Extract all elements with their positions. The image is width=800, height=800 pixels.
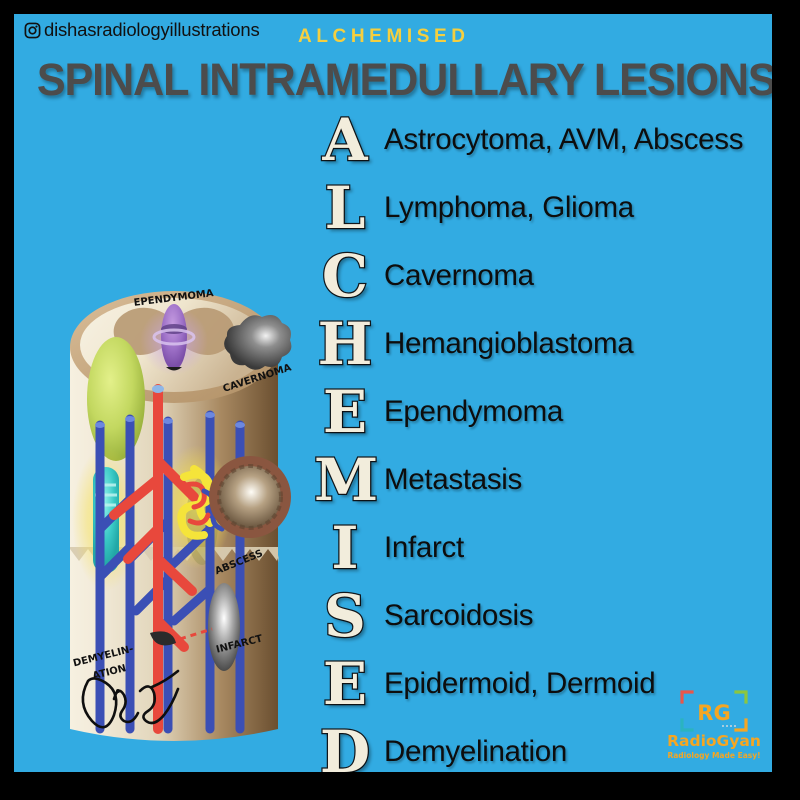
- mnemonic-letter: A: [314, 111, 376, 169]
- mnemonic-row: LLymphoma, Glioma: [314, 174, 772, 242]
- mnemonic-row: AAstrocytoma, AVM, Abscess: [314, 106, 772, 174]
- page-title: SPINAL INTRAMEDULLARY LESIONS: [37, 54, 749, 106]
- logo-tagline: Radiology Made Easy!: [667, 751, 760, 760]
- mnemonic-term: Lymphoma, Glioma: [384, 191, 634, 225]
- mnemonic-letter: E: [314, 655, 376, 713]
- mnemonic-term: Astrocytoma, AVM, Abscess: [384, 123, 743, 157]
- mnemonic-term: Cavernoma: [384, 259, 534, 293]
- mnemonic-term: Infarct: [384, 531, 464, 565]
- instagram-icon: [24, 22, 41, 39]
- mnemonic-letter: M: [314, 451, 376, 509]
- mnemonic-term: Demyelination: [384, 735, 567, 769]
- mnemonic-letter: C: [314, 247, 376, 305]
- eyebrow-text: ALCHEMISED: [298, 26, 470, 48]
- mnemonic-term: Ependymoma: [384, 395, 563, 429]
- mnemonic-letter: S: [314, 587, 376, 645]
- spinal-cord-illustration: EPENDYMOMA CAVERNOMA: [44, 229, 304, 759]
- poster-root: dishasradiologyillustrations ALCHEMISED …: [0, 0, 800, 800]
- mnemonic-term: Hemangioblastoma: [384, 327, 633, 361]
- logo-name: RadioGyan: [667, 732, 761, 750]
- mnemonic-row: IInfarct: [314, 514, 772, 582]
- mnemonic-letter: E: [314, 383, 376, 441]
- logo-monogram: RG: [697, 701, 730, 725]
- mnemonic-row: SSarcoidosis: [314, 582, 772, 650]
- mnemonic-row: MMetastasis: [314, 446, 772, 514]
- mnemonic-row: EEpendymoma: [314, 378, 772, 446]
- mnemonic-letter: I: [314, 519, 376, 577]
- mnemonic-row: CCavernoma: [314, 242, 772, 310]
- mnemonic-term: Epidermoid, Dermoid: [384, 667, 655, 701]
- mnemonic-term: Sarcoidosis: [384, 599, 533, 633]
- mnemonic-row: HHemangioblastoma: [314, 310, 772, 378]
- poster-card: dishasradiologyillustrations ALCHEMISED …: [14, 14, 772, 772]
- mnemonic-letter: L: [314, 179, 376, 237]
- mnemonic-list: AAstrocytoma, AVM, AbscessLLymphoma, Gli…: [314, 106, 772, 772]
- mnemonic-letter: D: [314, 723, 376, 772]
- mnemonic-term: Metastasis: [384, 463, 522, 497]
- instagram-handle-text: dishasradiologyillustrations: [44, 19, 260, 41]
- radiogyan-logo[interactable]: RG RadioGyan Radiology Made Easy!: [666, 682, 762, 764]
- instagram-handle[interactable]: dishasradiologyillustrations: [24, 19, 260, 41]
- mnemonic-letter: H: [314, 315, 376, 373]
